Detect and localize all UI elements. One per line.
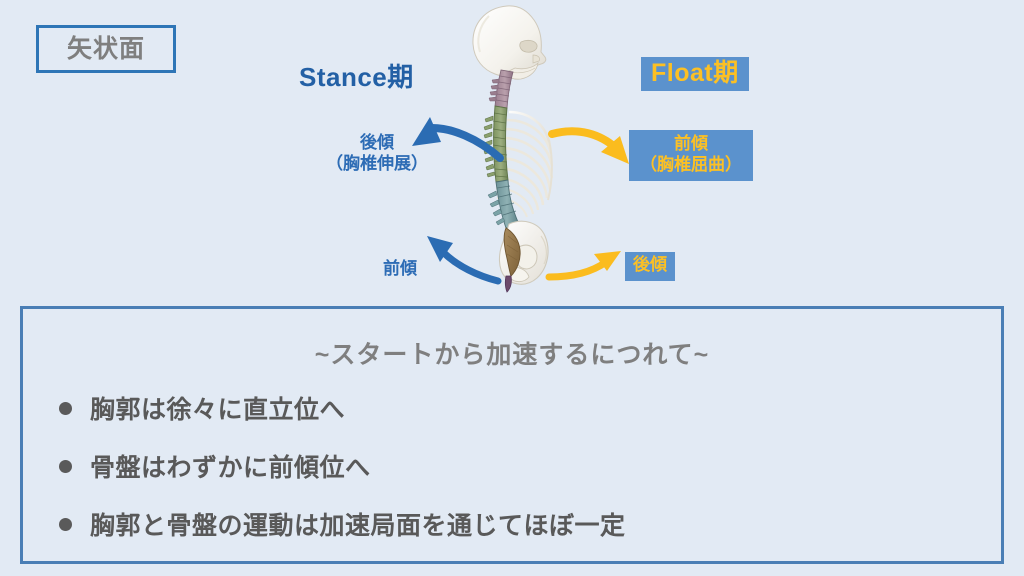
thorax-float-annotation-line1: 前傾: [631, 134, 751, 155]
list-item: 胸郭と骨盤の運動は加速局面を通じてほぼ一定: [23, 506, 1001, 542]
lumbar-spine: [488, 180, 518, 228]
thorax-float-annotation-line2: （胸椎屈曲）: [631, 155, 751, 176]
pelvis-stance-annotation: 前傾: [383, 259, 417, 280]
list-item-label: 骨盤はわずかに前傾位へ: [90, 448, 371, 484]
stance-phase-label: Stance期: [299, 57, 414, 94]
thorax-stance-annotation: 後傾 （胸椎伸展）: [316, 133, 438, 174]
list-item: 骨盤はわずかに前傾位へ: [23, 448, 1001, 484]
pelvis-float-annotation: 後傾: [625, 252, 675, 281]
sagittal-spine-figure: [449, 0, 599, 305]
thoracic-spine: [484, 106, 508, 182]
thorax-stance-annotation-line2: （胸椎伸展）: [316, 154, 438, 175]
slide-title-box: 矢状面: [36, 25, 176, 73]
list-item-label: 胸郭は徐々に直立位へ: [90, 390, 345, 426]
notes-heading: ~スタートから加速するにつれて~: [23, 335, 1001, 371]
thorax-float-annotation: 前傾 （胸椎屈曲）: [629, 130, 753, 181]
skull-icon: [473, 6, 546, 79]
float-phase-label: Float期: [641, 57, 749, 91]
summary-notes-box: ~スタートから加速するにつれて~ 胸郭は徐々に直立位へ 骨盤はわずかに前傾位へ …: [20, 306, 1004, 564]
notes-list: 胸郭は徐々に直立位へ 骨盤はわずかに前傾位へ 胸郭と骨盤の運動は加速局面を通じて…: [23, 390, 1001, 542]
thorax-stance-annotation-line1: 後傾: [316, 133, 438, 154]
bullet-icon: [59, 518, 72, 531]
slide-canvas: 矢状面 Stance期 Float期 後傾 （胸椎伸展） 前傾 （胸椎屈曲） 前…: [0, 0, 1024, 576]
list-item-label: 胸郭と骨盤の運動は加速局面を通じてほぼ一定: [90, 506, 626, 542]
page-title: 矢状面: [67, 37, 145, 62]
bullet-icon: [59, 402, 72, 415]
cervical-spine: [489, 70, 513, 108]
list-item: 胸郭は徐々に直立位へ: [23, 390, 1001, 426]
bullet-icon: [59, 460, 72, 473]
